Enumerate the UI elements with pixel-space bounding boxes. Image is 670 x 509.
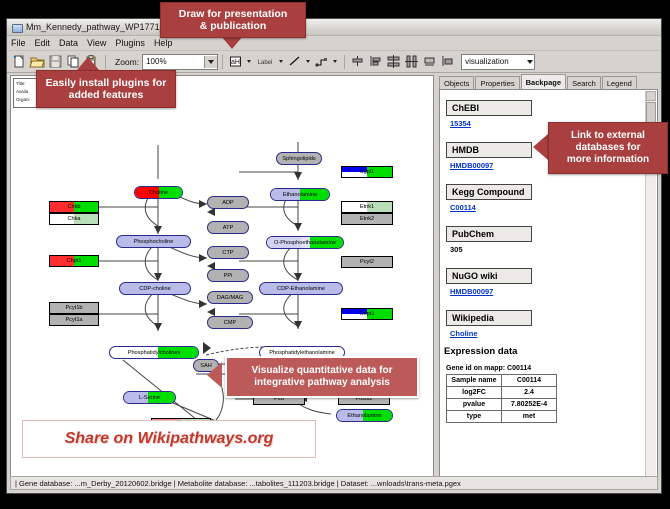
gene-sgpl1[interactable]: Sgpl1 xyxy=(341,166,393,178)
expression-table: Sample name C00114 log2FC 2.4 pvalue 7.8… xyxy=(446,374,557,423)
align-left-icon[interactable] xyxy=(367,53,384,70)
menu-item-file[interactable]: File xyxy=(11,38,26,48)
gene-label: Pcyt2 xyxy=(360,259,374,265)
node-adp[interactable]: ADP xyxy=(207,196,249,209)
callout-draw-line1: Draw for presentation xyxy=(179,8,288,20)
node-label: Choline xyxy=(149,190,168,196)
toolbar-separator xyxy=(344,55,345,69)
db-section-wikipedia: Wikipedia Choline xyxy=(446,308,657,338)
node-sphingolipids[interactable]: Sphingolipids xyxy=(276,152,322,165)
distribute-horizontal-icon[interactable] xyxy=(403,53,420,70)
gene-cept1[interactable]: Cept1 xyxy=(341,308,393,320)
callout-share-text: Share on Wikipathways.org xyxy=(65,430,274,448)
db-name-hmdb: HMDB xyxy=(446,142,532,158)
cell-label: type xyxy=(447,411,502,423)
node-label: CTP xyxy=(222,250,233,256)
callout-draw: Draw for presentation & publication xyxy=(160,2,306,38)
node-label: CMP xyxy=(224,320,236,326)
db-value-pubchem: 305 xyxy=(450,245,657,254)
menubar: File Edit Data View Plugins Help xyxy=(7,36,661,51)
gene-pcyt2[interactable]: Pcyt2 xyxy=(341,256,393,268)
node-label: Phosphatidylcholines xyxy=(128,350,181,356)
menu-item-plugins[interactable]: Plugins xyxy=(115,38,145,48)
gene-pcyt1b[interactable]: Pcyt1b xyxy=(49,302,99,314)
callout-draw-line2: & publication xyxy=(200,20,267,32)
zoom-label: Zoom: xyxy=(115,57,139,67)
node-ethanolamine-bottom[interactable]: Ethanolamine xyxy=(336,409,393,422)
gene-label: Etnk2 xyxy=(360,216,374,222)
node-l-serine-left[interactable]: L-Serine xyxy=(123,391,176,404)
table-row: log2FC 2.4 xyxy=(447,387,557,399)
toolbar-separator xyxy=(105,55,106,69)
window-titlebar: Mm_Kennedy_pathway_WP1771_45176.gpml xyxy=(7,19,661,36)
node-label: ATP xyxy=(223,225,233,231)
node-label: PPi xyxy=(224,273,233,279)
pathvisio-icon xyxy=(11,22,23,33)
line-tool-icon[interactable] xyxy=(286,53,303,70)
status-bar: | Gene database: ...m_Derby_20120602.bri… xyxy=(10,476,658,490)
db-section-kegg: Kegg Compound C00114 xyxy=(446,182,657,212)
node-cmp[interactable]: CMP xyxy=(207,316,253,329)
node-phosphocholine[interactable]: Phosphocholine xyxy=(116,235,191,248)
align-center-icon[interactable] xyxy=(349,53,366,70)
new-file-icon[interactable] xyxy=(11,53,28,70)
cell-value: 7.80252E-4 xyxy=(502,399,557,411)
db-name-nugo: NuGO wiki xyxy=(446,268,532,284)
node-label: ADP xyxy=(222,200,234,206)
gene-label: Chkb xyxy=(67,204,80,210)
node-label: CDP-choline xyxy=(139,286,170,292)
screenshot-root: Mm_Kennedy_pathway_WP1771_45176.gpml Fil… xyxy=(0,0,670,509)
node-choline-top[interactable]: Choline xyxy=(134,186,183,199)
gene-label: Cept1 xyxy=(360,311,375,317)
tab-legend[interactable]: Legend xyxy=(602,76,637,89)
callout-link-line1: Link to external xyxy=(571,130,645,142)
cell-label: log2FC xyxy=(447,387,502,399)
cell-label: Sample name xyxy=(447,375,502,387)
callout-plugins-line2: added features xyxy=(69,89,144,101)
node-label: Phosphatidylethanolamine xyxy=(269,350,335,356)
gene-label: Etnk1 xyxy=(360,204,374,210)
cell-label: pvalue xyxy=(447,399,502,411)
node-label: CDP-Ethanolamine xyxy=(277,286,325,292)
callout-link: Link to external databases for more info… xyxy=(548,122,668,174)
menu-item-help[interactable]: Help xyxy=(154,38,173,48)
zoom-combo[interactable]: 100% xyxy=(142,54,218,70)
gene-label: Pcyt1a xyxy=(65,317,82,323)
db-section-nugo: NuGO wiki HMDB00097 xyxy=(446,266,657,296)
table-row: type met xyxy=(447,411,557,423)
cell-value: met xyxy=(502,411,557,423)
open-folder-icon[interactable] xyxy=(29,53,46,70)
db-link-nugo[interactable]: HMDB00097 xyxy=(450,287,657,296)
db-name-wikipedia: Wikipedia xyxy=(446,310,532,326)
label-tool-icon[interactable]: Label xyxy=(254,53,276,70)
table-row: Sample name C00114 xyxy=(447,375,557,387)
gene-label: Pcyt1b xyxy=(65,305,82,311)
gene-label: Sgpl1 xyxy=(360,169,374,175)
callout-link-line3: more information xyxy=(567,154,649,166)
db-link-kegg[interactable]: C00114 xyxy=(450,203,657,212)
menu-item-view[interactable]: View xyxy=(87,38,106,48)
svg-text:Label: Label xyxy=(258,60,273,66)
node-label: Ethanolamine xyxy=(283,192,317,198)
callout-visualize-arrow-icon xyxy=(207,362,222,388)
table-row: pvalue 7.80252E-4 xyxy=(447,399,557,411)
visualization-combo[interactable]: visualization xyxy=(461,54,535,70)
stack-icon[interactable] xyxy=(439,53,456,70)
gene-etnk2[interactable]: Etnk2 xyxy=(341,213,393,225)
db-name-chebi: ChEBI xyxy=(446,100,532,116)
gene-label: Chpt1 xyxy=(67,258,82,264)
callout-link-line2: databases for xyxy=(575,142,640,154)
db-name-kegg: Kegg Compound xyxy=(446,184,532,200)
node-cdp-choline[interactable]: CDP-choline xyxy=(119,282,191,295)
text-label-dropdown-icon[interactable] xyxy=(245,53,253,70)
node-atp[interactable]: ATP xyxy=(207,221,249,234)
gene-etnk1[interactable]: Etnk1 xyxy=(341,201,393,213)
gene-label: Chka xyxy=(67,216,80,222)
node-label: O-Phosphoethanolamine xyxy=(274,240,336,246)
zoom-value: 100% xyxy=(143,57,166,66)
callout-visualize: Visualize quantitative data for integrat… xyxy=(225,356,419,398)
node-label: Phosphocholine xyxy=(134,239,174,245)
save-icon[interactable] xyxy=(47,53,64,70)
node-phosphatidylcholines[interactable]: Phosphatidylcholines xyxy=(109,346,199,359)
distribute-vertical-icon[interactable] xyxy=(385,53,402,70)
node-label: Sphingolipids xyxy=(282,156,315,162)
text-label-icon[interactable]: aH xyxy=(227,53,244,70)
tab-objects[interactable]: Objects xyxy=(439,76,474,89)
svg-text:aH: aH xyxy=(231,59,240,66)
chevron-down-icon[interactable] xyxy=(204,56,217,68)
db-name-pubchem: PubChem xyxy=(446,226,532,242)
toolbar-separator xyxy=(222,55,223,69)
gene-id-on-mapp: Gene id on mapp: C00114 xyxy=(446,365,657,372)
callout-visualize-line2: integrative pathway analysis xyxy=(254,377,390,389)
gene-pcyt1a[interactable]: Pcyt1a xyxy=(49,314,99,326)
chevron-down-icon[interactable] xyxy=(525,55,534,69)
label-dropdown-icon[interactable] xyxy=(277,53,285,70)
cell-value: 2.4 xyxy=(502,387,557,399)
gene-chpt1[interactable]: Chpt1 xyxy=(49,255,99,267)
callout-visualize-line1: Visualize quantitative data for xyxy=(252,365,393,377)
callout-plugins-line1: Easily install plugins for xyxy=(46,77,167,89)
sidepanel-tabs: Objects Properties Backpage Search Legen… xyxy=(439,75,638,89)
node-ppi[interactable]: PPi xyxy=(207,269,249,282)
scroll-up-button[interactable] xyxy=(646,91,656,101)
visualization-value: visualization xyxy=(462,57,509,66)
expression-data-heading: Expression data xyxy=(444,346,657,357)
tab-backpage[interactable]: Backpage xyxy=(521,74,566,89)
status-text: | Gene database: ...m_Derby_20120602.bri… xyxy=(11,479,461,488)
node-cdp-ethanolamine[interactable]: CDP-Ethanolamine xyxy=(259,282,343,295)
menu-item-data[interactable]: Data xyxy=(59,38,78,48)
callout-plugins: Easily install plugins for added feature… xyxy=(36,70,176,108)
node-dag-mag[interactable]: DAG/MAG xyxy=(207,291,253,304)
callout-plugins-arrow-icon xyxy=(77,57,99,70)
callout-link-arrow-icon xyxy=(533,134,548,160)
gene-chkb[interactable]: Chkb xyxy=(49,201,99,213)
node-label: L-Serine xyxy=(139,395,160,401)
connector-dropdown-icon[interactable] xyxy=(331,53,339,70)
node-ctp[interactable]: CTP xyxy=(207,246,249,259)
node-label: Ethanolamine xyxy=(347,413,381,419)
db-section-pubchem: PubChem 305 xyxy=(446,224,657,254)
node-ethanolamine[interactable]: Ethanolamine xyxy=(270,188,330,201)
group-icon[interactable] xyxy=(421,53,438,70)
gene-chka[interactable]: Chka xyxy=(49,213,99,225)
callout-share: Share on Wikipathways.org xyxy=(22,420,316,458)
connector-tool-icon[interactable] xyxy=(313,53,330,70)
node-o-phosphoethanolamine[interactable]: O-Phosphoethanolamine xyxy=(266,236,344,249)
node-label: DAG/MAG xyxy=(217,295,243,301)
tab-properties[interactable]: Properties xyxy=(475,76,519,89)
line-dropdown-icon[interactable] xyxy=(304,53,312,70)
cell-value: C00114 xyxy=(502,375,557,387)
menu-item-edit[interactable]: Edit xyxy=(35,38,51,48)
tab-search[interactable]: Search xyxy=(567,76,601,89)
db-link-wikipedia[interactable]: Choline xyxy=(450,329,657,338)
